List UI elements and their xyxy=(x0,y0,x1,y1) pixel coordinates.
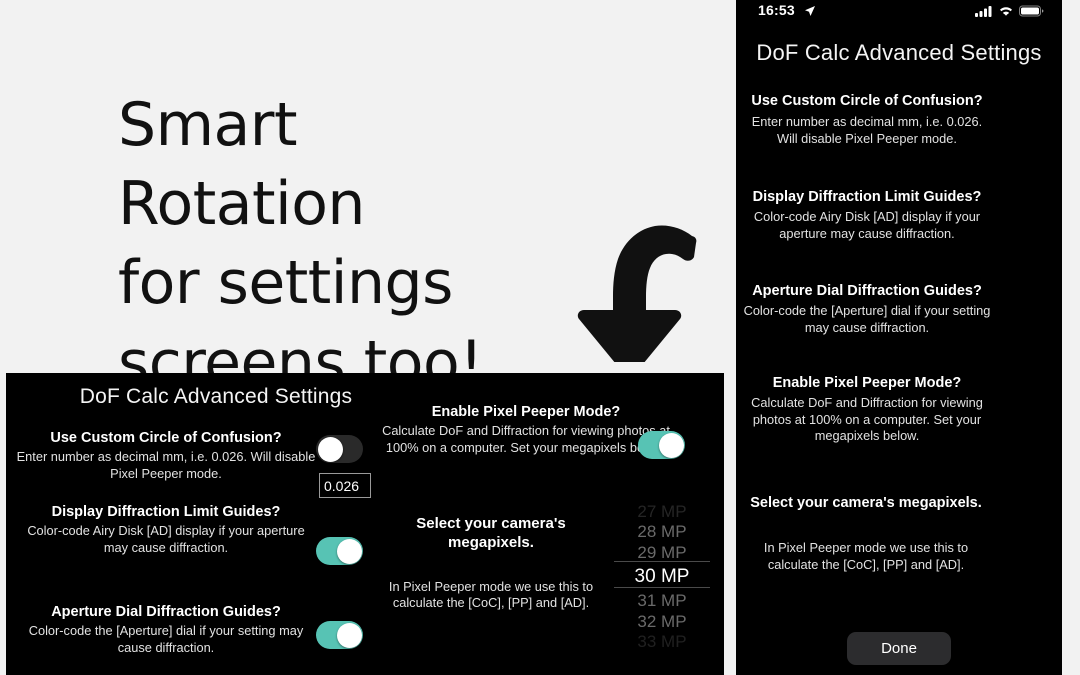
curved-down-arrow-icon xyxy=(556,222,706,362)
setting-row-diffraction-limit-guides: Display Diffraction Limit Guides? Color-… xyxy=(742,188,992,242)
picker-option[interactable]: 32 MP xyxy=(614,613,710,630)
status-bar-time: 16:53 xyxy=(758,2,795,18)
screenshot-root: Smart Rotation for settings screens too!… xyxy=(0,0,1080,675)
portrait-settings-screen: 16:53 xyxy=(736,0,1062,675)
toggle-knob xyxy=(337,539,362,564)
setting-row-aperture-dial-guides: Aperture Dial Diffraction Guides? Color-… xyxy=(16,603,316,675)
landscape-settings-screen: DoF Calc Advanced Settings Use Custom Ci… xyxy=(6,373,724,675)
megapixels-block: Select your camera's megapixels. In Pixe… xyxy=(746,494,986,573)
megapixels-block: Select your camera's megapixels. In Pixe… xyxy=(376,515,606,612)
toggle-knob xyxy=(659,433,684,458)
promo-banner: Smart Rotation for settings screens too! xyxy=(0,0,730,373)
setting-description-aperture-dial-guides: Color-code the [Aperture] dial if your s… xyxy=(16,623,316,656)
toggle-aperture-dial-guides[interactable] xyxy=(316,621,363,649)
page-title: DoF Calc Advanced Settings xyxy=(6,385,426,409)
setting-label-pixel-peeper-mode: Enable Pixel Peeper Mode? xyxy=(742,374,992,392)
megapixels-label: Select your camera's megapixels. xyxy=(376,515,606,553)
setting-label-custom-coc: Use Custom Circle of Confusion? xyxy=(16,429,316,447)
megapixels-picker-landscape[interactable]: 27 MP 28 MP 29 MP 30 MP 31 MP 32 MP 33 M… xyxy=(614,503,710,628)
picker-option-selected[interactable]: 30 MP xyxy=(614,567,710,586)
megapixels-label: Select your camera's megapixels. xyxy=(746,494,986,512)
setting-row-custom-coc: Use Custom Circle of Confusion? Enter nu… xyxy=(16,429,316,491)
picker-option[interactable]: 28 MP xyxy=(614,523,710,540)
setting-label-custom-coc: Use Custom Circle of Confusion? xyxy=(742,92,992,110)
coc-value-field[interactable]: 0.026 xyxy=(319,473,371,498)
megapixels-description: In Pixel Peeper mode we use this to calc… xyxy=(746,540,986,573)
toggle-custom-coc[interactable] xyxy=(316,435,363,463)
setting-description-pixel-peeper-mode: Calculate DoF and Diffraction for viewin… xyxy=(742,395,992,445)
setting-row-diffraction-limit-guides: Display Diffraction Limit Guides? Color-… xyxy=(16,503,316,581)
setting-description-custom-coc: Enter number as decimal mm, i.e. 0.026. … xyxy=(16,449,316,482)
megapixels-description: In Pixel Peeper mode we use this to calc… xyxy=(376,579,606,612)
setting-row-custom-coc: Use Custom Circle of Confusion? Enter nu… xyxy=(742,92,992,147)
wifi-icon xyxy=(998,4,1014,22)
picker-option[interactable]: 29 MP xyxy=(614,544,710,561)
promo-headline: Smart Rotation for settings screens too! xyxy=(118,86,538,403)
setting-row-aperture-dial-guides: Aperture Dial Diffraction Guides? Color-… xyxy=(742,282,992,336)
done-button[interactable]: Done xyxy=(847,632,951,665)
setting-row-pixel-peeper-mode: Enable Pixel Peeper Mode? Calculate DoF … xyxy=(376,403,676,483)
status-bar: 16:53 xyxy=(736,0,1062,24)
setting-label-aperture-dial-guides: Aperture Dial Diffraction Guides? xyxy=(16,603,316,621)
picker-option[interactable]: 27 MP xyxy=(614,503,710,520)
toggle-diffraction-limit-guides[interactable] xyxy=(316,537,363,565)
setting-row-pixel-peeper-mode: Enable Pixel Peeper Mode? Calculate DoF … xyxy=(742,374,992,445)
setting-description-diffraction-limit-guides: Color-code Airy Disk [AD] display if you… xyxy=(16,523,316,556)
location-arrow-icon xyxy=(804,4,816,22)
cellular-signal-icon xyxy=(975,4,993,22)
toggle-pixel-peeper-mode[interactable] xyxy=(638,431,685,459)
status-bar-indicators xyxy=(975,4,1044,22)
page-title: DoF Calc Advanced Settings xyxy=(736,40,1062,66)
setting-description-custom-coc: Enter number as decimal mm, i.e. 0.026. … xyxy=(742,114,992,147)
setting-description-aperture-dial-guides: Color-code the [Aperture] dial if your s… xyxy=(742,303,992,336)
toggle-knob xyxy=(337,623,362,648)
toggle-knob xyxy=(318,437,343,462)
setting-label-diffraction-limit-guides: Display Diffraction Limit Guides? xyxy=(742,188,992,206)
setting-label-pixel-peeper-mode: Enable Pixel Peeper Mode? xyxy=(376,403,676,421)
picker-option[interactable]: 33 MP xyxy=(614,633,710,650)
landscape-left-column: Use Custom Circle of Confusion? Enter nu… xyxy=(16,429,316,675)
battery-full-icon xyxy=(1019,4,1044,22)
setting-label-diffraction-limit-guides: Display Diffraction Limit Guides? xyxy=(16,503,316,521)
setting-label-aperture-dial-guides: Aperture Dial Diffraction Guides? xyxy=(742,282,992,300)
setting-description-pixel-peeper-mode: Calculate DoF and Diffraction for viewin… xyxy=(376,423,676,456)
setting-description-diffraction-limit-guides: Color-code Airy Disk [AD] display if you… xyxy=(742,209,992,242)
picker-option[interactable]: 31 MP xyxy=(614,592,710,609)
